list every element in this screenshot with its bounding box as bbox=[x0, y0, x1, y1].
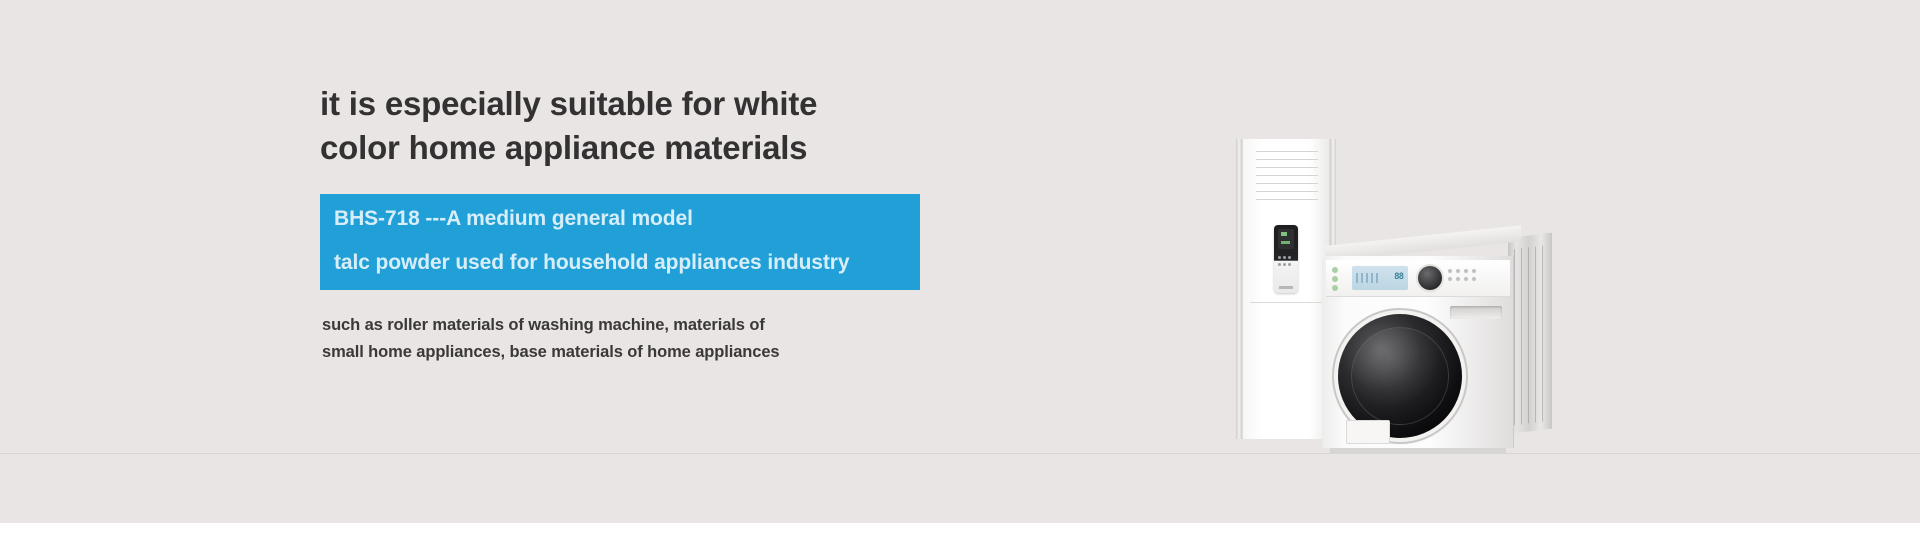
washer-front-panel: 88 bbox=[1322, 256, 1514, 448]
banner-headline: it is especially suitable for white colo… bbox=[320, 82, 1080, 170]
washer-option-buttons bbox=[1446, 267, 1480, 291]
banner-background-lower bbox=[0, 454, 1920, 523]
ac-control-panel bbox=[1274, 225, 1298, 293]
washer-control-panel: 88 bbox=[1326, 260, 1510, 297]
washer-display-screen: 88 bbox=[1352, 266, 1408, 290]
appliance-artwork: 88 bbox=[1222, 0, 1552, 460]
model-callout-line-2: talc powder used for household appliance… bbox=[320, 250, 920, 276]
air-conditioner-image bbox=[1236, 139, 1336, 439]
banner-detail-text: such as roller materials of washing mach… bbox=[320, 312, 1080, 366]
washer-program-dial bbox=[1418, 266, 1442, 290]
washer-side-panel bbox=[1508, 233, 1552, 434]
washer-indicator-lights bbox=[1332, 267, 1348, 291]
washer-display-value: 88 bbox=[1394, 272, 1403, 282]
washer-detergent-drawer bbox=[1450, 306, 1502, 319]
ac-body bbox=[1242, 139, 1330, 439]
ac-keypad-icon bbox=[1277, 254, 1295, 262]
ac-display-screen bbox=[1278, 229, 1294, 249]
ac-brand-mark bbox=[1279, 286, 1293, 289]
product-banner: it is especially suitable for white colo… bbox=[0, 0, 1920, 560]
ac-vents-icon bbox=[1256, 151, 1318, 207]
washer-base bbox=[1330, 448, 1506, 454]
washer-filter-hatch bbox=[1346, 420, 1390, 444]
banner-copy: it is especially suitable for white colo… bbox=[320, 82, 1080, 366]
washing-machine-image: 88 bbox=[1322, 238, 1552, 448]
model-callout-box: BHS-718 ---A medium general model talc p… bbox=[320, 194, 920, 290]
model-callout-line-1: BHS-718 ---A medium general model bbox=[320, 206, 920, 232]
banner-footer-strip bbox=[0, 523, 1920, 560]
